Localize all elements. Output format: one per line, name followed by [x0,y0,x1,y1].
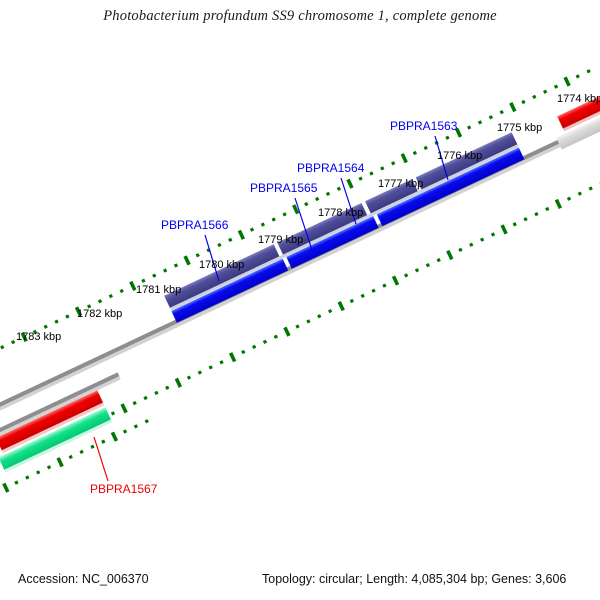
tick-label: 1783 kbp [16,331,61,343]
tick-label: 1782 kbp [77,308,122,320]
genome-stats-text: Topology: circular; Length: 4,085,304 bp… [262,572,566,586]
genome-map-canvas[interactable]: 1774 kbp 1775 kbp 1776 kbp 1777 kbp 1778… [0,0,600,600]
tick-label: 1780 kbp [199,259,244,271]
gene-labels[interactable]: PBPRA1563 PBPRA1564 PBPRA1565 PBPRA1566 … [90,119,458,496]
tick-label: 1781 kbp [136,284,181,296]
gene-label-pbpra1565[interactable]: PBPRA1565 [250,181,318,195]
tick-labels: 1774 kbp 1775 kbp 1776 kbp 1777 kbp 1778… [16,93,600,343]
tick-label: 1776 kbp [437,150,482,162]
gene-label-pbpra1567[interactable]: PBPRA1567 [90,482,158,496]
genome-viewer: Photobacterium profundum SS9 chromosome … [0,0,600,600]
tick-label: 1778 kbp [318,207,363,219]
leader-line-pbpra1567 [94,437,108,481]
gene-label-pbpra1563[interactable]: PBPRA1563 [390,119,458,133]
tick-label: 1774 kbp [557,93,600,105]
tick-label: 1775 kbp [497,122,542,134]
tick-label: 1779 kbp [258,234,303,246]
right-edge-features[interactable] [548,66,600,149]
gene-label-pbpra1566[interactable]: PBPRA1566 [161,218,229,232]
gene-label-pbpra1564[interactable]: PBPRA1564 [297,161,365,175]
accession-text: Accession: NC_006370 [18,572,149,586]
tick-label: 1777 kbp [378,178,423,190]
